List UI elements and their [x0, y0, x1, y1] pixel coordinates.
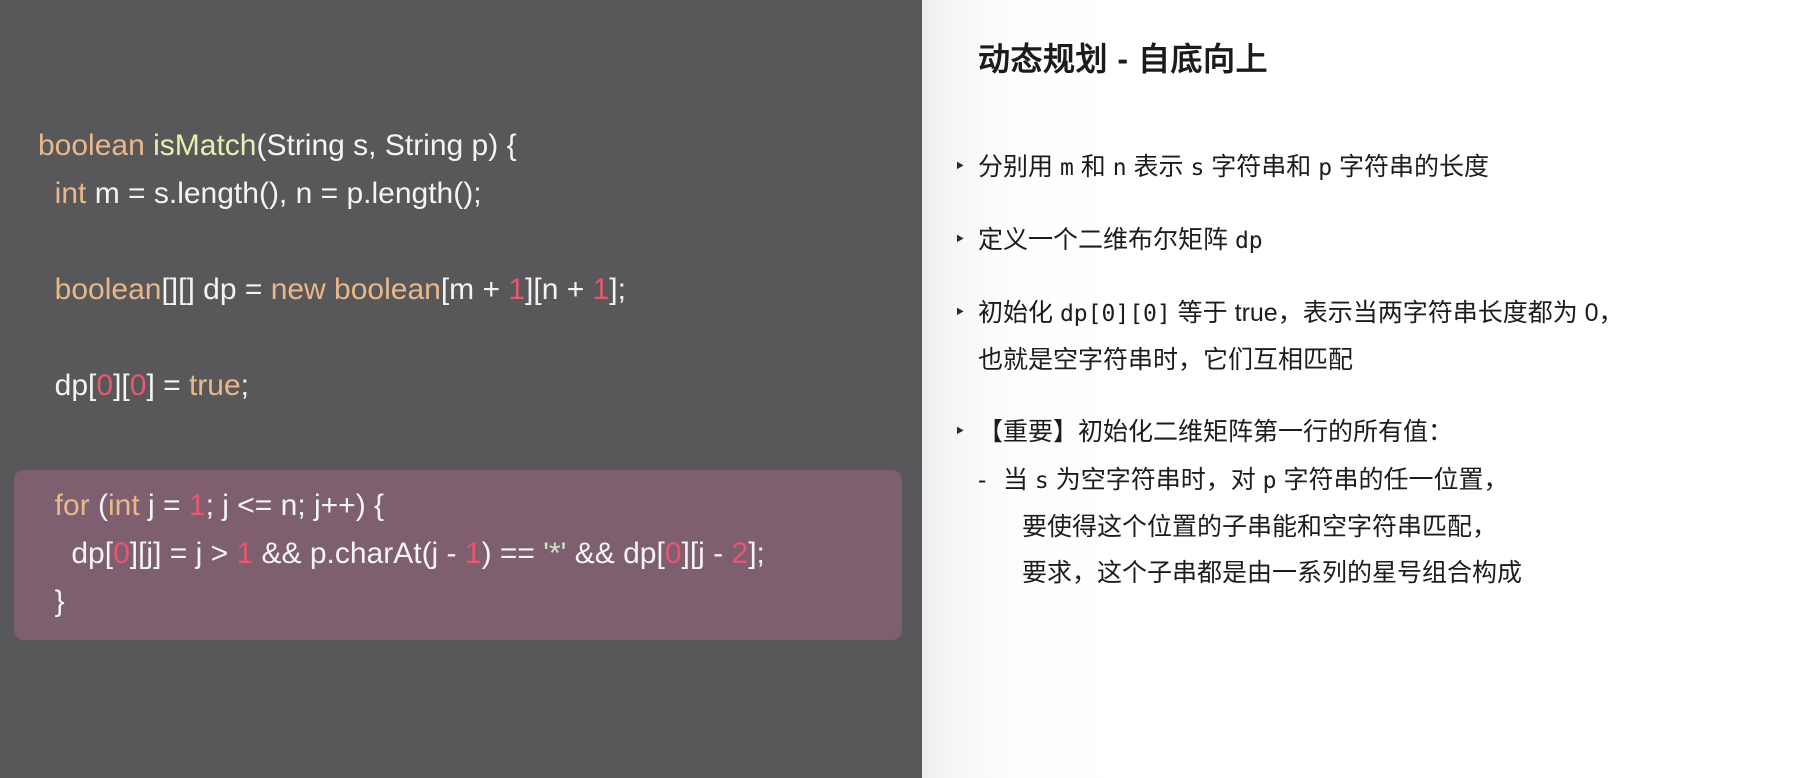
code-highlight-block[interactable]: for (int j = 1; j <= n; j++) { dp[0][j] …	[14, 470, 902, 640]
note-line: 分别用 m 和 n 表示 s 字符串和 p 字符串的长度	[978, 144, 1808, 191]
code-token: && p.charAt(j -	[253, 537, 465, 570]
note-text: 字符串和	[1204, 153, 1318, 181]
note-item[interactable]: ‣初始化 dp[0][0] 等于 true，表示当两字符串长度都为 0，也就是空…	[950, 290, 1808, 383]
page-title: 动态规划 - 自底向上	[978, 34, 1268, 80]
code-token: [m +	[441, 273, 509, 306]
bullet-icon: ‣	[950, 290, 978, 336]
code-token: }	[55, 585, 65, 618]
code-token: for	[55, 489, 90, 522]
note-sub-line: - 当 s 为空字符串时，对 p 字符串的任一位置，	[978, 457, 1808, 504]
code-token: ][j -	[682, 537, 732, 570]
note-body: 分别用 m 和 n 表示 s 字符串和 p 字符串的长度	[978, 144, 1808, 191]
note-text: 和	[1074, 153, 1113, 181]
code-token: 0	[96, 369, 113, 402]
note-text: 分别用	[978, 153, 1060, 181]
code-inline: p	[1318, 155, 1332, 181]
code-token: 1	[189, 489, 206, 522]
code-token: int	[108, 489, 140, 522]
code-token: ][n +	[525, 273, 593, 306]
code-token: boolean	[55, 273, 162, 306]
dash-icon: -	[978, 457, 996, 503]
code-token: 1	[465, 537, 482, 570]
code-token: 0	[113, 537, 130, 570]
note-text: 要求，这个子串都是由一系列的星号组合构成	[1022, 559, 1522, 587]
note-text: 表示	[1127, 153, 1191, 181]
code-token: 0	[665, 537, 682, 570]
code-token: [][] dp =	[161, 273, 270, 306]
code-token: ) ==	[482, 537, 544, 570]
code-token: m = s.length(), n = p.length();	[86, 177, 481, 210]
note-text: 字符串的任一位置，	[1277, 466, 1509, 494]
code-inline: m	[1060, 155, 1074, 181]
code-inline: n	[1113, 155, 1127, 181]
code-inline: s	[1035, 468, 1049, 494]
code-token	[145, 129, 153, 162]
code-text-highlighted: for (int j = 1; j <= n; j++) { dp[0][j] …	[38, 482, 902, 626]
note-text: 当	[1003, 466, 1035, 494]
code-inline: p	[1263, 468, 1277, 494]
note-body: 【重要】初始化二维矩阵第一行的所有值：- 当 s 为空字符串时，对 p 字符串的…	[978, 409, 1808, 596]
code-token: ];	[609, 273, 626, 306]
note-line: 【重要】初始化二维矩阵第一行的所有值：	[978, 409, 1808, 455]
code-token: (String s, String p) {	[256, 129, 516, 162]
code-token: new boolean	[271, 273, 441, 306]
note-sub-list: - 当 s 为空字符串时，对 p 字符串的任一位置，要使得这个位置的子串能和空字…	[978, 457, 1808, 596]
note-text: 初始化	[978, 299, 1060, 327]
code-inline: s	[1190, 155, 1204, 181]
code-inline: dp	[1235, 228, 1263, 254]
code-token: 0	[130, 369, 147, 402]
note-item[interactable]: ‣定义一个二维布尔矩阵 dp	[950, 217, 1808, 264]
note-text: 也就是空字符串时，它们互相匹配	[978, 346, 1353, 374]
code-panel: boolean isMatch(String s, String p) { in…	[0, 0, 922, 778]
note-text: 【重要】初始化二维矩阵第一行的所有值：	[978, 418, 1453, 446]
note-body: 定义一个二维布尔矩阵 dp	[978, 217, 1808, 264]
notes-panel: 动态规划 - 自底向上 ‣分别用 m 和 n 表示 s 字符串和 p 字符串的长…	[922, 0, 1808, 778]
notes-bullet-list: ‣分别用 m 和 n 表示 s 字符串和 p 字符串的长度‣定义一个二维布尔矩阵…	[950, 144, 1808, 622]
code-token: boolean	[38, 129, 145, 162]
note-text: 定义一个二维布尔矩阵	[978, 226, 1235, 254]
code-token: j =	[140, 489, 189, 522]
code-token: '*'	[543, 537, 566, 570]
bullet-icon: ‣	[950, 217, 978, 263]
code-token: ] =	[146, 369, 189, 402]
code-token: 1	[593, 273, 610, 306]
note-item[interactable]: ‣【重要】初始化二维矩阵第一行的所有值：- 当 s 为空字符串时，对 p 字符串…	[950, 409, 1808, 596]
note-body: 初始化 dp[0][0] 等于 true，表示当两字符串长度都为 0，也就是空字…	[978, 290, 1808, 383]
code-token: ; j <= n; j++) {	[206, 489, 384, 522]
code-token: ;	[241, 369, 249, 402]
note-sub-line: 要求，这个子串都是由一系列的星号组合构成	[978, 550, 1808, 596]
code-token: ][	[113, 369, 130, 402]
note-line: 也就是空字符串时，它们互相匹配	[978, 337, 1808, 383]
code-token: dp[	[71, 537, 113, 570]
code-token: 2	[732, 537, 749, 570]
code-token: isMatch	[153, 129, 256, 162]
note-text: 字符串的长度	[1332, 153, 1489, 181]
note-line: 初始化 dp[0][0] 等于 true，表示当两字符串长度都为 0，	[978, 290, 1808, 337]
note-text: 要使得这个位置的子串能和空字符串匹配，	[1022, 513, 1497, 541]
code-token: (	[90, 489, 108, 522]
code-token: ];	[748, 537, 765, 570]
code-inline: dp[0][0]	[1060, 301, 1171, 327]
note-text: 为空字符串时，对	[1049, 466, 1263, 494]
code-token: 1	[236, 537, 253, 570]
bullet-icon: ‣	[950, 144, 978, 190]
code-token: && dp[	[566, 537, 664, 570]
code-token: dp[	[55, 369, 97, 402]
code-text-top: boolean isMatch(String s, String p) { in…	[38, 122, 918, 410]
note-sub-line: 要使得这个位置的子串能和空字符串匹配，	[978, 504, 1808, 550]
note-line: 定义一个二维布尔矩阵 dp	[978, 217, 1808, 264]
code-token: int	[55, 177, 87, 210]
note-item[interactable]: ‣分别用 m 和 n 表示 s 字符串和 p 字符串的长度	[950, 144, 1808, 191]
code-token: 1	[508, 273, 525, 306]
code-lines-unhighlighted[interactable]: boolean isMatch(String s, String p) { in…	[38, 122, 918, 410]
code-token: true	[189, 369, 241, 402]
bullet-icon: ‣	[950, 409, 978, 455]
note-text: 等于 true，表示当两字符串长度都为 0，	[1171, 299, 1624, 327]
code-token: ][j] = j >	[130, 537, 237, 570]
